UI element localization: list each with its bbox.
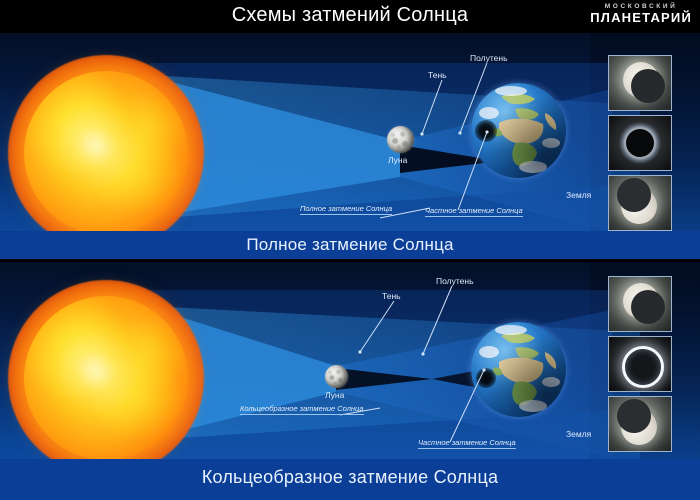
total-eclipse-photo[interactable] (608, 115, 672, 171)
partial-eclipse-photo-bottom[interactable] (608, 175, 672, 231)
antumbra-contact-spot (476, 368, 496, 388)
label-central-eclipse: Кольцеобразное затмение Солнца (240, 404, 364, 415)
partial-eclipse-photo-bottom[interactable] (608, 396, 672, 452)
sun-surface-texture (24, 71, 188, 235)
umbra-contact-spot (475, 120, 497, 142)
moon-disc (387, 126, 414, 153)
planetarium-logo: МОСКОВСКИЙ ПЛАНЕТАРИЙ (590, 2, 692, 25)
label-earth: Земля (566, 190, 591, 200)
label-moon: Луна (325, 390, 344, 400)
label-umbra: Тень (382, 291, 401, 301)
header-bar: Схемы затмений Солнца МОСКОВСКИЙ ПЛАНЕТА… (0, 0, 700, 31)
caption-band-total: Полное затмение Солнца (0, 231, 700, 259)
label-moon: Луна (388, 155, 407, 165)
panel-annular-eclipse: Солнце Луна (0, 262, 700, 477)
moon-craters (387, 126, 414, 153)
label-partial-eclipse: Частное затмение Солнца (425, 206, 523, 217)
partial-eclipse-photo-top[interactable] (608, 276, 672, 332)
label-penumbra: Полутень (470, 53, 508, 63)
annular-eclipse-photo[interactable] (608, 336, 672, 392)
caption-annular-eclipse: Кольцеобразное затмение Солнца (0, 459, 700, 495)
label-central-eclipse: Полное затмение Солнца (300, 204, 392, 215)
label-umbra: Тень (428, 70, 447, 80)
panel-total-eclipse: Солнце Луна (0, 33, 700, 259)
moon-disc (325, 365, 348, 388)
label-earth: Земля (566, 429, 591, 439)
label-partial-eclipse: Частное затмение Солнца (418, 438, 516, 449)
infographic-root: Схемы затмений Солнца МОСКОВСКИЙ ПЛАНЕТА… (0, 0, 700, 500)
moon-craters (325, 365, 348, 388)
label-penumbra: Полутень (436, 276, 474, 286)
sun-surface-texture (24, 296, 188, 460)
sun-disc (24, 296, 188, 460)
partial-eclipse-photo-top[interactable] (608, 55, 672, 111)
sun-disc (24, 71, 188, 235)
logo-line-planetariy: ПЛАНЕТАРИЙ (590, 11, 692, 25)
caption-band-annular: Кольцеобразное затмение Солнца (0, 459, 700, 500)
caption-total-eclipse: Полное затмение Солнца (0, 231, 700, 259)
